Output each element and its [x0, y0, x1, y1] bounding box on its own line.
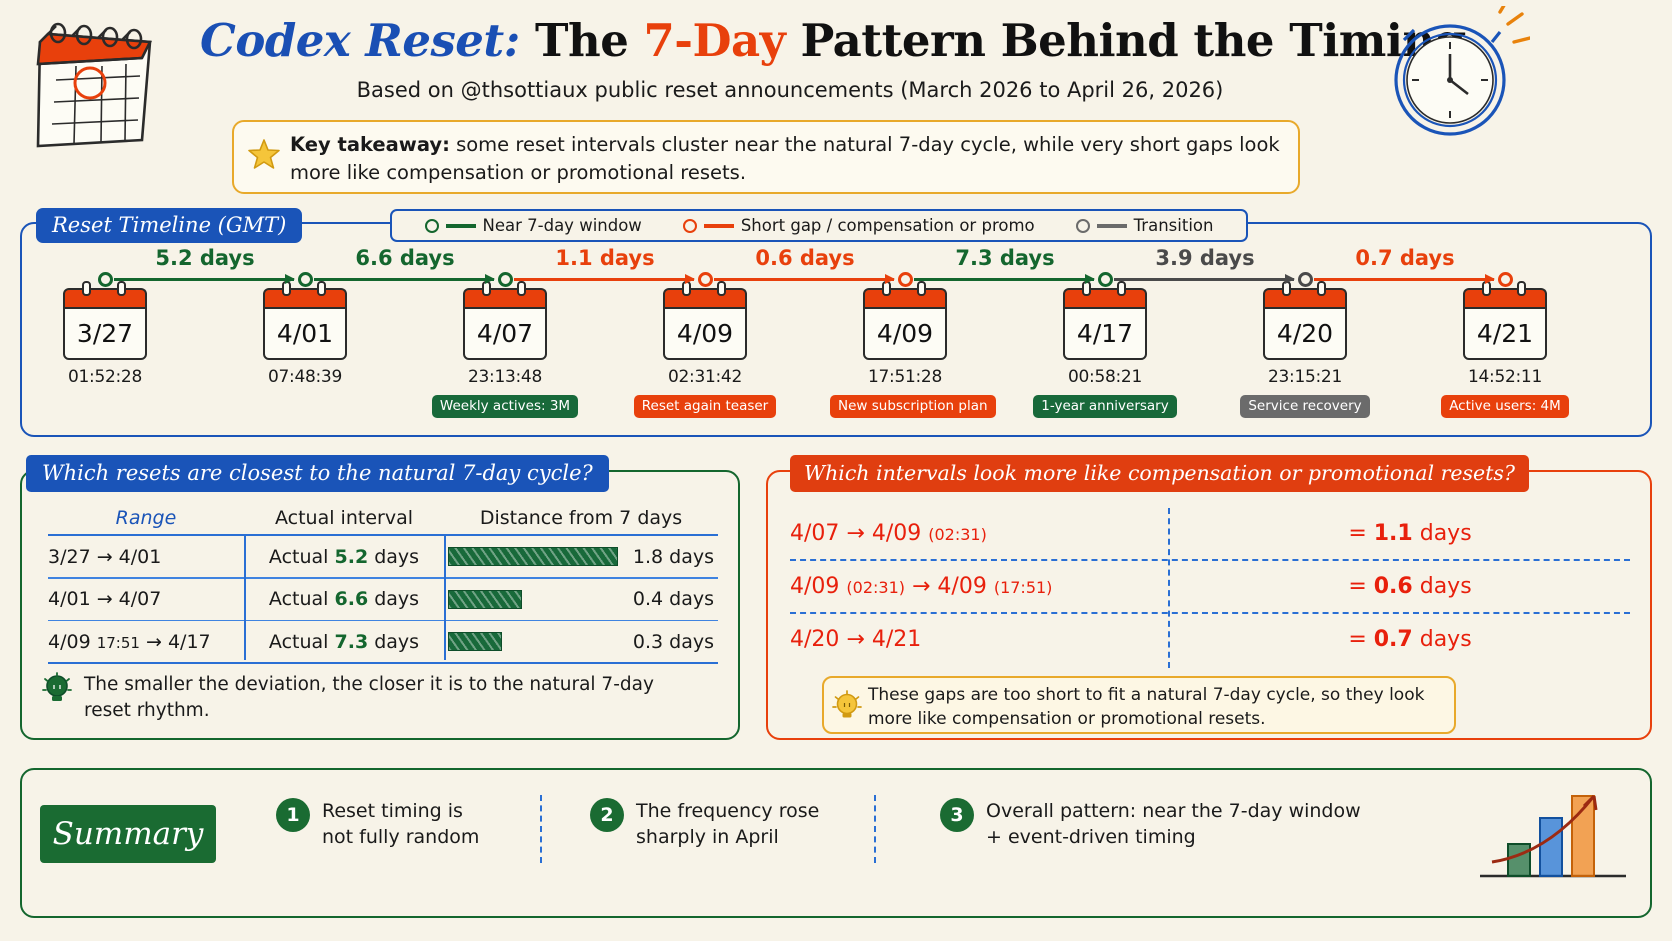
calendar-icon: 4/17	[1063, 288, 1147, 360]
timeline-marker-icon	[498, 272, 513, 287]
row-range: 4/09 17:51 → 4/17	[48, 631, 211, 653]
legend-item-2: Transition	[1076, 216, 1214, 235]
star-icon	[248, 138, 280, 170]
result-prefix: =	[1348, 521, 1366, 546]
growth-chart-icon	[1478, 790, 1628, 880]
timeline-node: 4/0107:48:39	[230, 288, 380, 387]
right-panel-heading: Which intervals look more like compensat…	[790, 455, 1529, 492]
timeline-badge: Reset again teaser	[634, 395, 776, 418]
legend-line-icon	[446, 224, 476, 228]
calendar-header	[1463, 288, 1547, 307]
calendar-ring-icon	[1317, 281, 1326, 296]
timeline-node: 4/2114:52:11Active users: 4M	[1430, 288, 1580, 418]
calendar-icon: 4/07	[463, 288, 547, 360]
header: Codex Reset: The 7-Day Pattern Behind th…	[0, 0, 1672, 120]
timeline-date: 4/07	[463, 307, 547, 360]
summary-line2: not fully random	[322, 826, 479, 848]
page-subtitle: Based on @thsottiaux public reset announ…	[200, 78, 1380, 102]
table-column-divider	[444, 534, 446, 660]
cell-range: 3/27 → 4/01	[48, 546, 244, 568]
timeline-marker-icon	[898, 272, 913, 287]
timeline-marker-icon	[698, 272, 713, 287]
result-value: 0.7	[1374, 627, 1413, 652]
timeline-node: 3/2701:52:28	[30, 288, 180, 387]
calendar-icon: 4/09	[663, 288, 747, 360]
cell-distance: 1.8 days	[444, 546, 718, 568]
col-actual: Actual interval	[244, 507, 444, 529]
timeline-date: 4/01	[263, 307, 347, 360]
timeline-time: 23:15:21	[1230, 367, 1380, 387]
timeline-time: 01:52:28	[30, 367, 180, 387]
legend-line-icon	[1097, 224, 1127, 228]
calendar-ring-icon	[517, 281, 526, 296]
summary-text: Overall pattern: near the 7-day window+ …	[986, 798, 1361, 850]
cell-interval: 4/07 → 4/09 (02:31)	[790, 521, 1190, 546]
summary-line2: + event-driven timing	[986, 826, 1196, 848]
legend-label: Near 7-day window	[483, 216, 642, 235]
infographic-page: Codex Reset: The 7-Day Pattern Behind th…	[0, 0, 1672, 941]
cell-distance: 0.3 days	[444, 631, 718, 653]
timeline-arrow-icon	[114, 278, 294, 281]
timeline-gap-label: 0.6 days	[705, 246, 905, 270]
right-panel-tip: These gaps are too short to fit a natura…	[822, 676, 1456, 734]
timeline-arrow-icon	[514, 278, 694, 281]
distance-value: 0.3 days	[633, 631, 718, 653]
calendar-header	[263, 288, 347, 307]
page-title: Codex Reset: The 7-Day Pattern Behind th…	[200, 14, 1380, 67]
timeline-node: 4/0902:31:42Reset again teaser	[630, 288, 780, 418]
timeline-gap: 0.6 days	[705, 246, 905, 270]
summary-line2: sharply in April	[636, 826, 779, 848]
row-interval-time-2: (17:51)	[994, 578, 1053, 597]
compensation-row: 4/09 (02:31) → 4/09 (17:51)= 0.6 days	[790, 561, 1630, 612]
row-interval: 4/07 → 4/09	[790, 521, 921, 546]
calendar-ring-icon	[917, 281, 926, 296]
timeline-arrow-icon	[314, 278, 494, 281]
row-interval-time: (02:31)	[846, 578, 905, 597]
cell-actual: Actual 6.6 days	[244, 588, 444, 610]
summary-number: 2	[590, 798, 624, 832]
col-range: Range	[48, 507, 244, 529]
calendar-header	[463, 288, 547, 307]
result-prefix: =	[1348, 574, 1366, 599]
timeline-date: 4/09	[863, 307, 947, 360]
timeline-time: 14:52:11	[1430, 367, 1580, 387]
cell-distance: 0.4 days	[444, 588, 718, 610]
distance-value: 0.4 days	[633, 588, 718, 610]
right-tip-text: These gaps are too short to fit a natura…	[868, 684, 1444, 732]
timeline-date: 4/09	[663, 307, 747, 360]
timeline-node: 4/0917:51:28New subscription plan	[830, 288, 980, 418]
timeline-gap-label: 3.9 days	[1105, 246, 1305, 270]
timeline-marker-icon	[1498, 272, 1513, 287]
takeaway-text: Key takeaway: some reset intervals clust…	[290, 131, 1284, 186]
timeline-date: 4/20	[1263, 307, 1347, 360]
row-interval: 4/20 → 4/21	[790, 627, 921, 652]
timeline-gap-label: 6.6 days	[305, 246, 505, 270]
legend-dot-icon	[683, 219, 697, 233]
row-interval-time: (02:31)	[928, 525, 987, 544]
timeline-gap: 7.3 days	[905, 246, 1105, 270]
calendar-header	[1063, 288, 1147, 307]
timeline-date: 4/17	[1063, 307, 1147, 360]
timeline-node: 4/0723:13:48Weekly actives: 3M	[430, 288, 580, 418]
calendar-ring-icon	[717, 281, 726, 296]
summary-text: The frequency rosesharply in April	[636, 798, 819, 850]
timeline-badge: Active users: 4M	[1441, 395, 1569, 418]
result-prefix: =	[1348, 627, 1366, 652]
title-part-codex: Codex Reset:	[200, 14, 520, 67]
timeline-gap: 3.9 days	[1105, 246, 1305, 270]
calendar-ring-icon	[1117, 281, 1126, 296]
compensation-rows: 4/07 → 4/09 (02:31)= 1.1 days4/09 (02:31…	[790, 508, 1630, 665]
table-row: 4/09 17:51 → 4/17Actual 7.3 days0.3 days	[48, 621, 718, 662]
calendar-ring-icon	[1517, 281, 1526, 296]
timeline-node: 4/2023:15:21Service recovery	[1230, 288, 1380, 418]
legend-label: Short gap / compensation or promo	[741, 216, 1035, 235]
calendar-header	[1263, 288, 1347, 307]
table-row: 4/01 → 4/07Actual 6.6 days0.4 days	[48, 579, 718, 620]
timeline-gap-label: 7.3 days	[905, 246, 1105, 270]
timeline-marker-icon	[98, 272, 113, 287]
legend-item-1: Short gap / compensation or promo	[683, 216, 1035, 235]
lightbulb-icon	[42, 672, 72, 706]
actual-suffix: days	[374, 631, 419, 653]
timeline-date: 4/21	[1463, 307, 1547, 360]
actual-suffix: days	[374, 546, 419, 568]
timeline-gap: 5.2 days	[105, 246, 305, 270]
calendar-ring-icon	[117, 281, 126, 296]
table-column-divider	[244, 534, 246, 660]
clock-doodle-icon	[1380, 6, 1530, 151]
row-interval-2: → 4/09	[905, 574, 987, 599]
timeline-marker-icon	[1098, 272, 1113, 287]
timeline-legend: Near 7-day windowShort gap / compensatio…	[390, 209, 1248, 242]
cell-result: = 0.6 days	[1190, 574, 1630, 599]
result-suffix: days	[1420, 627, 1472, 652]
title-part-the: The	[535, 14, 628, 67]
summary-divider	[540, 795, 542, 863]
timeline-time: 07:48:39	[230, 367, 380, 387]
calendar-icon: 4/20	[1263, 288, 1347, 360]
timeline-date: 3/27	[63, 307, 147, 360]
timeline-badge: Weekly actives: 3M	[432, 395, 578, 418]
distance-value: 1.8 days	[633, 546, 718, 568]
calendar-ring-icon	[82, 281, 91, 296]
title-part-7day: 7-Day	[644, 14, 786, 67]
result-value: 1.1	[1374, 521, 1413, 546]
timeline-badge: Service recovery	[1240, 395, 1369, 418]
legend-label: Transition	[1134, 216, 1214, 235]
legend-dot-icon	[1076, 219, 1090, 233]
summary-item: 1Reset timing isnot fully random	[276, 798, 536, 850]
cell-interval: 4/20 → 4/21	[790, 627, 1190, 652]
col-distance: Distance from 7 days	[444, 507, 718, 529]
distance-bar	[448, 547, 618, 566]
cell-actual: Actual 7.3 days	[244, 631, 444, 653]
table-divider	[48, 662, 718, 664]
timeline-gap: 1.1 days	[505, 246, 705, 270]
distance-bar	[448, 590, 522, 609]
distance-bar	[448, 632, 502, 651]
timeline-gap-label: 0.7 days	[1305, 246, 1505, 270]
timeline-arrow-icon	[1114, 278, 1294, 281]
cell-result: = 0.7 days	[1190, 627, 1630, 652]
legend-dot-icon	[425, 219, 439, 233]
timeline-gap-label: 5.2 days	[105, 246, 305, 270]
timeline-gap-label: 1.1 days	[505, 246, 705, 270]
calendar-icon: 3/27	[63, 288, 147, 360]
calendar-header	[863, 288, 947, 307]
timeline-arrow-icon	[914, 278, 1094, 281]
takeaway-label: Key takeaway:	[290, 133, 450, 156]
left-panel-heading: Which resets are closest to the natural …	[26, 455, 609, 492]
cell-range: 4/01 → 4/07	[48, 588, 244, 610]
summary-divider	[874, 795, 876, 863]
key-takeaway-box: Key takeaway: some reset intervals clust…	[232, 120, 1300, 194]
row-range: 4/01 → 4/07	[48, 588, 161, 610]
cell-result: = 1.1 days	[1190, 521, 1630, 546]
timeline-gap: 6.6 days	[305, 246, 505, 270]
calendar-icon: 4/21	[1463, 288, 1547, 360]
calendar-icon: 4/01	[263, 288, 347, 360]
calendar-icon: 4/09	[863, 288, 947, 360]
cell-actual: Actual 5.2 days	[244, 546, 444, 568]
actual-value: 5.2	[335, 546, 369, 568]
row-interval: 4/09	[790, 574, 839, 599]
actual-value: 6.6	[335, 588, 369, 610]
closest-table: RangeActual intervalDistance from 7 days…	[48, 502, 718, 664]
summary-line1: Reset timing is	[322, 800, 463, 822]
timeline-badge: 1-year anniversary	[1033, 395, 1176, 418]
timeline-gap: 0.7 days	[1305, 246, 1505, 270]
legend-line-icon	[704, 224, 734, 228]
title-part-rest: Pattern Behind the Timing	[801, 14, 1466, 67]
actual-prefix: Actual	[269, 631, 329, 653]
left-note-text: The smaller the deviation, the closer it…	[84, 672, 702, 723]
table-header-row: RangeActual intervalDistance from 7 days	[48, 502, 718, 534]
calendar-doodle-icon	[22, 8, 172, 158]
timeline-title: Reset Timeline (GMT)	[36, 208, 302, 243]
summary-label: Summary	[40, 805, 216, 863]
timeline-content: 3/2701:52:284/0107:48:394/0723:13:48Week…	[20, 250, 1652, 465]
timeline-arrow-icon	[714, 278, 894, 281]
summary-text: Reset timing isnot fully random	[322, 798, 479, 850]
actual-suffix: days	[374, 588, 419, 610]
lightbulb-icon	[832, 690, 862, 722]
compensation-row: 4/07 → 4/09 (02:31)= 1.1 days	[790, 508, 1630, 559]
compensation-row: 4/20 → 4/21= 0.7 days	[790, 614, 1630, 665]
timeline-node: 4/1700:58:211-year anniversary	[1030, 288, 1180, 418]
summary-item: 2The frequency rosesharply in April	[590, 798, 870, 850]
summary-item: 3Overall pattern: near the 7-day window+…	[940, 798, 1410, 850]
result-suffix: days	[1420, 574, 1472, 599]
result-value: 0.6	[1374, 574, 1413, 599]
cell-range: 4/09 17:51 → 4/17	[48, 631, 244, 653]
summary-line1: Overall pattern: near the 7-day window	[986, 800, 1361, 822]
cell-interval: 4/09 (02:31) → 4/09 (17:51)	[790, 574, 1190, 599]
calendar-ring-icon	[317, 281, 326, 296]
timeline-marker-icon	[298, 272, 313, 287]
timeline-time: 17:51:28	[830, 367, 980, 387]
row-range: 3/27 → 4/01	[48, 546, 161, 568]
calendar-header	[663, 288, 747, 307]
summary-number: 3	[940, 798, 974, 832]
timeline-time: 02:31:42	[630, 367, 780, 387]
calendar-header	[63, 288, 147, 307]
left-panel-note: The smaller the deviation, the closer it…	[42, 672, 702, 723]
summary-line1: The frequency rose	[636, 800, 819, 822]
actual-prefix: Actual	[269, 546, 329, 568]
result-suffix: days	[1420, 521, 1472, 546]
table-row: 3/27 → 4/01Actual 5.2 days1.8 days	[48, 536, 718, 577]
timeline-marker-icon	[1298, 272, 1313, 287]
timeline-arrow-icon	[1314, 278, 1494, 281]
timeline-time: 23:13:48	[430, 367, 580, 387]
summary-number: 1	[276, 798, 310, 832]
timeline-time: 00:58:21	[1030, 367, 1180, 387]
timeline-badge: New subscription plan	[830, 395, 996, 418]
actual-prefix: Actual	[269, 588, 329, 610]
legend-item-0: Near 7-day window	[425, 216, 642, 235]
actual-value: 7.3	[335, 631, 369, 653]
